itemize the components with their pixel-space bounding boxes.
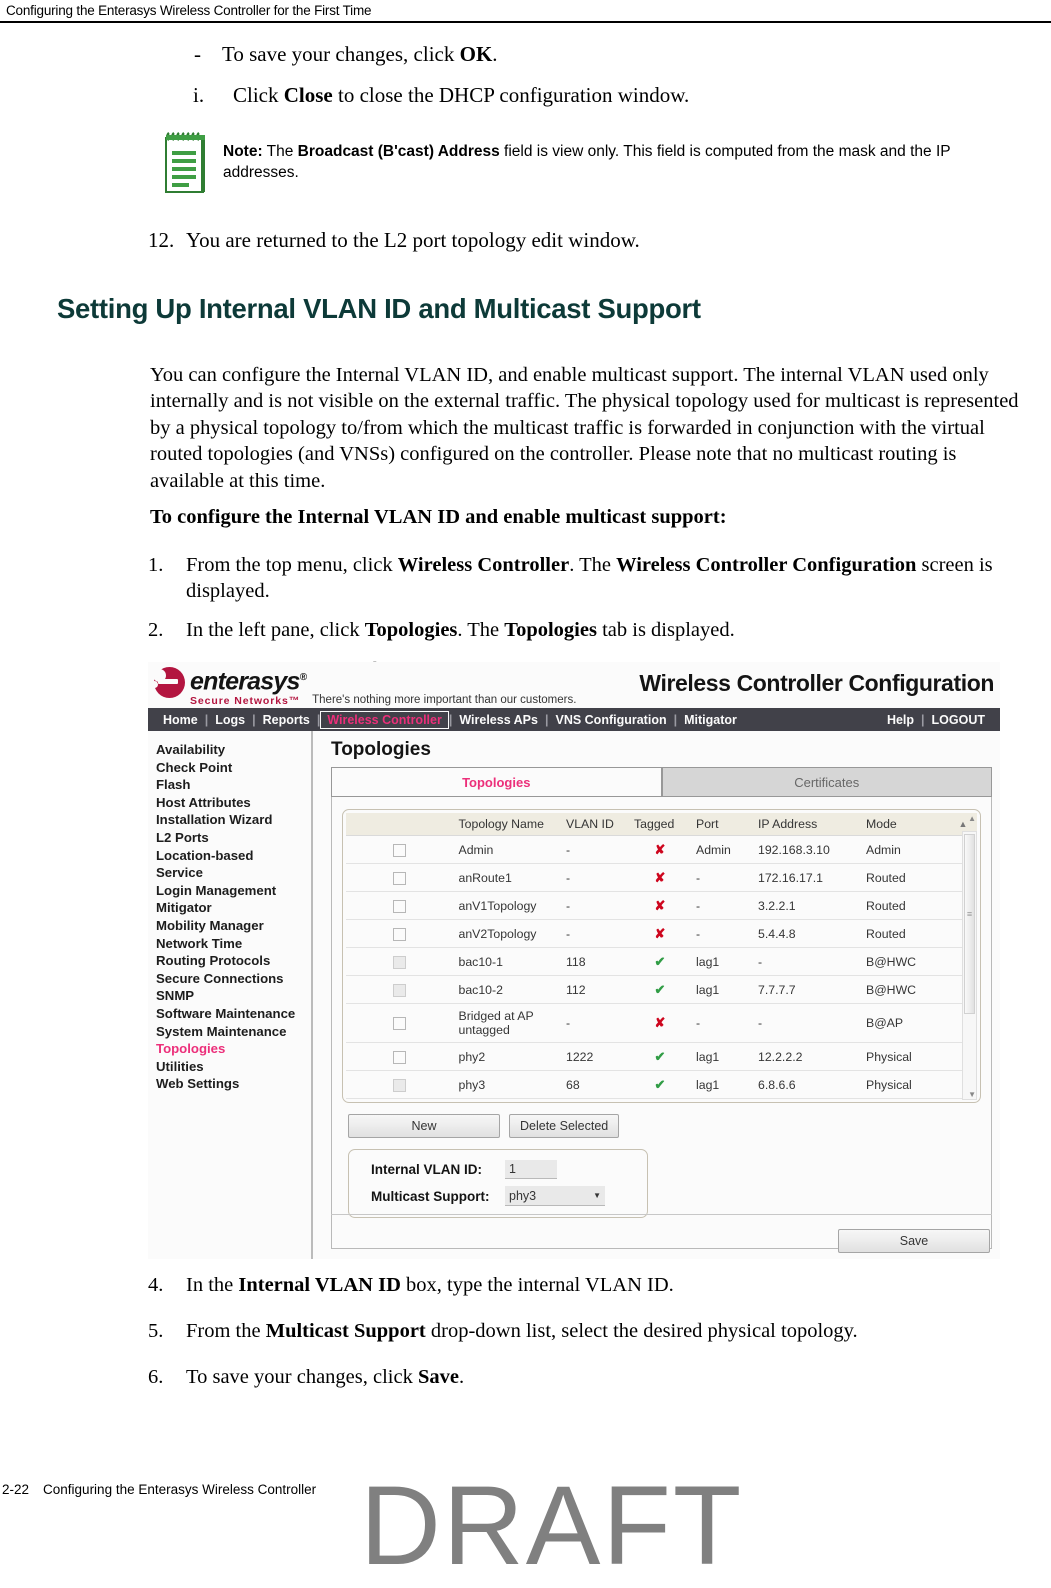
grid-button-row: New Delete Selected [342, 1114, 981, 1138]
step-text: box, type the internal VLAN ID. [401, 1274, 674, 1296]
row-checkbox-cell[interactable] [346, 920, 454, 948]
brand-name: enterasys® [190, 665, 306, 694]
footer-page-number: 2-22 [2, 1482, 29, 1497]
table-vertical-scrollbar[interactable] [962, 831, 977, 1100]
row-checkbox[interactable] [393, 844, 406, 857]
step-text: . [459, 1366, 464, 1388]
cell-port: lag1 [691, 976, 753, 1004]
topologies-table: Topology NameVLAN IDTaggedPortIP Address… [346, 813, 977, 1099]
sub-bullet-save-ok: - To save your changes, click OK. [222, 42, 498, 67]
note-text: Note: The Broadcast (B'cast) Address fie… [223, 132, 1003, 184]
cell-topology-name: bac10-2 [454, 976, 562, 1004]
cell-mode: Routed [861, 892, 949, 920]
step-text: In the left pane, click [186, 619, 365, 641]
cell-tagged: ✘ [629, 892, 691, 920]
table-row[interactable]: anV1Topology-✘-3.2.2.1Routed [346, 892, 977, 920]
table-row[interactable]: bac10-2112✔lag17.7.7.7B@HWC [346, 976, 977, 1004]
cell-ip-address: - [753, 1004, 861, 1043]
app-title: Wireless Controller Configuration [639, 670, 994, 697]
tab-topologies[interactable]: Topologies [331, 767, 662, 796]
cell-ip-address: 12.2.2.2 [753, 1043, 861, 1071]
step-item: 1.From the top menu, click Wireless Cont… [186, 552, 1046, 604]
row-checkbox[interactable] [393, 1051, 406, 1064]
check-icon: ✔ [655, 1077, 666, 1092]
procedure-lead-in: To configure the Internal VLAN ID and en… [150, 506, 727, 529]
new-button[interactable]: New [348, 1114, 500, 1138]
cell-vlan-id: 118 [561, 948, 629, 976]
page-running-header: Configuring the Enterasys Wireless Contr… [0, 0, 1051, 23]
app-body: AvailabilityCheck PointFlashHost Attribu… [148, 731, 1000, 1259]
cell-ip-address: 172.16.17.1 [753, 864, 861, 892]
step-number: 6. [148, 1364, 163, 1390]
table-row[interactable]: Bridged at AP untagged-✘--B@AP [346, 1004, 977, 1043]
cell-vlan-id: - [561, 920, 629, 948]
table-head: Topology NameVLAN IDTaggedPortIP Address… [346, 813, 977, 836]
brand-tagline-bold: Secure Networks™ [190, 695, 306, 708]
step-text: . The [457, 619, 504, 641]
sidebar-item-availability[interactable]: Availability [156, 741, 311, 759]
column-header-tagged[interactable]: Tagged [629, 813, 691, 836]
cell-mode: B@HWC [861, 948, 949, 976]
sidebar-item-network-time[interactable]: Network Time [156, 935, 311, 953]
brand-trademark: ® [300, 672, 307, 683]
footer-chapter-title: Configuring the Enterasys Wireless Contr… [43, 1482, 316, 1497]
enterasys-logo-mark-icon [154, 667, 185, 698]
check-icon: ✔ [655, 954, 666, 969]
cell-ip-address: 3.2.2.1 [753, 892, 861, 920]
row-checkbox[interactable] [393, 1017, 406, 1030]
step-text-bold: Save [418, 1366, 459, 1388]
step-text: . The [569, 554, 616, 576]
cell-topology-name: Admin [454, 836, 562, 864]
column-header-mode[interactable]: Mode [861, 813, 949, 836]
bullet-dash: - [194, 42, 201, 67]
cell-topology-name: bac10-1 [454, 948, 562, 976]
step-text: From the [186, 1320, 266, 1342]
row-checkbox-cell[interactable] [346, 864, 454, 892]
row-checkbox[interactable] [393, 984, 406, 997]
app-main-panel: Topologies TopologiesCertificates Topolo… [313, 731, 1000, 1259]
cell-vlan-id: 1222 [561, 1043, 629, 1071]
cross-icon: ✘ [655, 898, 666, 913]
row-checkbox[interactable] [393, 1079, 406, 1092]
cell-tagged: ✔ [629, 1043, 691, 1071]
sidebar-item-system-maintenance[interactable]: System Maintenance [156, 1023, 311, 1041]
scroll-down-arrow-icon[interactable]: ▼ [968, 1090, 976, 1099]
row-checkbox-cell[interactable] [346, 976, 454, 1004]
sub-bullet-text-before: To save your changes, click [222, 42, 460, 66]
header-rule [0, 21, 1051, 23]
brand-tagline-bold-text: Secure Networks [190, 695, 289, 707]
panel-tabs[interactable]: TopologiesCertificates [331, 767, 992, 797]
sidebar-item-check-point[interactable]: Check Point [156, 759, 311, 777]
multicast-support-select[interactable]: phy3 ▼ [505, 1186, 605, 1206]
cell-mode: Admin [861, 836, 949, 864]
row-checkbox[interactable] [393, 900, 406, 913]
row-checkbox[interactable] [393, 956, 406, 969]
cell-topology-name: anV1Topology [454, 892, 562, 920]
app-sidebar[interactable]: AvailabilityCheck PointFlashHost Attribu… [148, 731, 313, 1259]
row-checkbox-cell[interactable] [346, 1071, 454, 1099]
step-12-number: 12. [148, 228, 174, 253]
tab-certificates[interactable]: Certificates [662, 767, 993, 796]
note-text-1: The [263, 143, 298, 160]
panel-title: Topologies [331, 739, 992, 761]
internal-vlan-id-input[interactable]: 1 [505, 1160, 557, 1179]
cell-mode: B@HWC [861, 976, 949, 1004]
table-row[interactable]: anRoute1-✘-172.16.17.1Routed [346, 864, 977, 892]
topology-grid-wrapper: Topology NameVLAN IDTaggedPortIP Address… [342, 809, 981, 1103]
cell-ip-address: 6.8.6.6 [753, 1071, 861, 1099]
cell-mode: Routed [861, 864, 949, 892]
delete-selected-button[interactable]: Delete Selected [509, 1114, 619, 1138]
cell-port: lag1 [691, 948, 753, 976]
sidebar-item-login-management[interactable]: Login Management [156, 882, 311, 900]
sidebar-item-location-based[interactable]: Location-based [156, 847, 311, 865]
sidebar-item-service[interactable]: Service [156, 864, 311, 882]
cell-vlan-id: 112 [561, 976, 629, 1004]
step-text: tab is displayed. [597, 619, 735, 641]
row-checkbox-cell[interactable] [346, 948, 454, 976]
cell-port: lag1 [691, 1071, 753, 1099]
sidebar-item-topologies[interactable]: Topologies [156, 1040, 311, 1058]
sidebar-item-installation-wizard[interactable]: Installation Wizard [156, 811, 311, 829]
sidebar-item-software-maintenance[interactable]: Software Maintenance [156, 1005, 311, 1023]
step-text-bold: Multicast Support [266, 1320, 426, 1342]
column-header-ip-address[interactable]: IP Address [753, 813, 861, 836]
vlan-multicast-fieldset: Internal VLAN ID: 1 Multicast Support: p… [348, 1149, 648, 1218]
nav-item-reports[interactable]: Reports [256, 713, 317, 727]
table-row[interactable]: bac10-1118✔lag1-B@HWC [346, 948, 977, 976]
section-heading: Setting Up Internal VLAN ID and Multicas… [57, 293, 701, 325]
page-footer: 2-22 Configuring the Enterasys Wireless … [0, 1482, 1051, 1497]
cell-topology-name: anRoute1 [454, 864, 562, 892]
cell-topology-name: phy2 [454, 1043, 562, 1071]
roman-text-after: to close the DHCP configuration window. [333, 83, 690, 107]
check-icon: ✔ [655, 1049, 666, 1064]
roman-text-before: Click [233, 83, 284, 107]
section-paragraph: You can configure the Internal VLAN ID, … [150, 362, 1020, 494]
cross-icon: ✘ [655, 870, 666, 885]
multicast-support-row: Multicast Support: phy3 ▼ [371, 1186, 635, 1206]
step-text: In the [186, 1274, 238, 1296]
roman-bold: Close [284, 83, 333, 107]
roman-item-close: i. Click Close to close the DHCP configu… [233, 83, 689, 108]
enterasys-logo: enterasys® Secure Networks™ There's noth… [154, 665, 576, 708]
sub-bullet-bold: OK [460, 42, 493, 66]
step-text-bold: Internal VLAN ID [238, 1274, 401, 1296]
save-separator [331, 1214, 992, 1215]
cell-port: - [691, 1004, 753, 1043]
scrollbar-thumb[interactable] [964, 834, 975, 1014]
step-item: 5.From the Multicast Support drop-down l… [186, 1318, 1046, 1344]
cell-tagged: ✘ [629, 864, 691, 892]
cell-vlan-id: - [561, 1004, 629, 1043]
cell-topology-name: anV2Topology [454, 920, 562, 948]
nav-item-wireless-aps[interactable]: Wireless APs [452, 713, 545, 727]
topology-grid-outer: Topology NameVLAN IDTaggedPortIP Address… [342, 809, 981, 1103]
logo-text-block: enterasys® Secure Networks™ [190, 665, 306, 708]
multicast-support-value: phy3 [509, 1189, 536, 1203]
brand-name-text: enterasys [190, 667, 300, 695]
cell-port: Admin [691, 836, 753, 864]
multicast-support-label: Multicast Support: [371, 1189, 505, 1204]
cross-icon: ✘ [655, 842, 666, 857]
column-header-select [346, 813, 454, 836]
cell-tagged: ✔ [629, 1071, 691, 1099]
cross-icon: ✘ [655, 926, 666, 941]
cell-ip-address: 5.4.4.8 [753, 920, 861, 948]
cell-ip-address: 7.7.7.7 [753, 976, 861, 1004]
sidebar-item-host-attributes[interactable]: Host Attributes [156, 794, 311, 812]
sidebar-item-secure-connections[interactable]: Secure Connections [156, 970, 311, 988]
sub-bullet-text-after: . [492, 42, 497, 66]
sidebar-item-mobility-manager[interactable]: Mobility Manager [156, 917, 311, 935]
scroll-up-arrow-icon[interactable]: ▲ [968, 814, 976, 823]
step-number: 5. [148, 1318, 163, 1344]
nav-item-mitigator[interactable]: Mitigator [677, 713, 744, 727]
cell-port: lag1 [691, 1043, 753, 1071]
step-number: 4. [148, 1272, 163, 1298]
cell-mode: B@AP [861, 1004, 949, 1043]
step-text: From the top menu, click [186, 554, 398, 576]
row-checkbox-cell[interactable] [346, 1004, 454, 1043]
row-checkbox[interactable] [393, 928, 406, 941]
cell-tagged: ✘ [629, 920, 691, 948]
panel-content-box: Topology NameVLAN IDTaggedPortIP Address… [331, 797, 992, 1249]
roman-marker: i. [193, 83, 204, 108]
app-top-navbar[interactable]: Home|Logs|Reports|Wireless Controller|Wi… [148, 708, 1000, 731]
cell-ip-address: - [753, 948, 861, 976]
cell-vlan-id: - [561, 864, 629, 892]
column-header-vlan-id[interactable]: VLAN ID [561, 813, 629, 836]
table-row[interactable]: anV2Topology-✘-5.4.4.8Routed [346, 920, 977, 948]
note-bold-field: Broadcast (B'cast) Address [298, 143, 500, 160]
nav-item-logs[interactable]: Logs [208, 713, 252, 727]
sidebar-item-routing-protocols[interactable]: Routing Protocols [156, 952, 311, 970]
table-row[interactable]: phy21222✔lag112.2.2.2Physical [346, 1043, 977, 1071]
notepad-icon [163, 132, 209, 194]
internal-vlan-id-label: Internal VLAN ID: [371, 1162, 505, 1177]
column-header-topology-name[interactable]: Topology Name [454, 813, 562, 836]
cell-topology-name: Bridged at AP untagged [454, 1004, 562, 1043]
cell-tagged: ✘ [629, 836, 691, 864]
nav-item-help[interactable]: Help [880, 713, 921, 727]
step-text-bold: Wireless Controller Configuration [616, 554, 916, 576]
nav-item-vns-configuration[interactable]: VNS Configuration [548, 713, 673, 727]
cell-vlan-id: 68 [561, 1071, 629, 1099]
sidebar-item-web-settings[interactable]: Web Settings [156, 1075, 311, 1093]
step-text: drop-down list, select the desired physi… [426, 1320, 858, 1342]
note-label: Note: [223, 143, 263, 160]
embedded-app-screenshot: enterasys® Secure Networks™ There's noth… [148, 662, 1000, 1259]
step-item: 6.To save your changes, click Save. [186, 1364, 1046, 1390]
step-item: 2.In the left pane, click Topologies. Th… [186, 617, 1046, 643]
table-header-row[interactable]: Topology NameVLAN IDTaggedPortIP Address… [346, 813, 977, 836]
sidebar-item-mitigator[interactable]: Mitigator [156, 899, 311, 917]
sidebar-item-utilities[interactable]: Utilities [156, 1058, 311, 1076]
nav-item-home[interactable]: Home [156, 713, 205, 727]
running-header-text: Configuring the Enterasys Wireless Contr… [0, 0, 1051, 21]
step-12-text: You are returned to the L2 port topology… [186, 228, 640, 252]
row-checkbox-cell[interactable] [346, 836, 454, 864]
table-row[interactable]: phy368✔lag16.8.6.6Physical [346, 1071, 977, 1099]
cell-mode: Physical [861, 1071, 949, 1099]
row-checkbox-cell[interactable] [346, 892, 454, 920]
step-item: 4.In the Internal VLAN ID box, type the … [186, 1272, 1046, 1298]
sidebar-item-flash[interactable]: Flash [156, 776, 311, 794]
app-masthead: enterasys® Secure Networks™ There's noth… [148, 662, 1000, 708]
step-text-bold: Topologies [365, 619, 458, 641]
row-checkbox-cell[interactable] [346, 1043, 454, 1071]
step-text-bold: Wireless Controller [398, 554, 569, 576]
cell-tagged: ✘ [629, 1004, 691, 1043]
save-button[interactable]: Save [838, 1229, 990, 1253]
step-text: To save your changes, click [186, 1366, 418, 1388]
cell-vlan-id: - [561, 836, 629, 864]
cell-port: - [691, 892, 753, 920]
nav-item-wireless-controller[interactable]: Wireless Controller [320, 711, 449, 729]
internal-vlan-id-row: Internal VLAN ID: 1 [371, 1160, 635, 1179]
table-body: Admin-✘Admin192.168.3.10AdminanRoute1-✘-… [346, 836, 977, 1099]
note-callout: Note: The Broadcast (B'cast) Address fie… [163, 132, 1003, 194]
table-row[interactable]: Admin-✘Admin192.168.3.10Admin [346, 836, 977, 864]
step-number: 1. [148, 552, 163, 578]
brand-tagline-tm: ™ [289, 695, 300, 707]
cell-mode: Routed [861, 920, 949, 948]
save-row: Save [838, 1229, 990, 1253]
row-checkbox[interactable] [393, 872, 406, 885]
cell-tagged: ✔ [629, 948, 691, 976]
cell-topology-name: phy3 [454, 1071, 562, 1099]
step-12: 12. You are returned to the L2 port topo… [186, 228, 640, 253]
cell-ip-address: 192.168.3.10 [753, 836, 861, 864]
step-text-bold: Topologies [504, 619, 597, 641]
steps-list-bottom: 4.In the Internal VLAN ID box, type the … [186, 1272, 1046, 1411]
cell-port: - [691, 864, 753, 892]
sidebar-item-snmp[interactable]: SNMP [156, 987, 311, 1005]
brand-slogan: There's nothing more important than our … [312, 694, 576, 708]
cell-mode: Physical [861, 1043, 949, 1071]
sidebar-item-l2-ports[interactable]: L2 Ports [156, 829, 311, 847]
cross-icon: ✘ [655, 1015, 666, 1030]
cell-vlan-id: - [561, 892, 629, 920]
column-header-port[interactable]: Port [691, 813, 753, 836]
step-number: 2. [148, 617, 163, 643]
cell-port: - [691, 920, 753, 948]
cell-tagged: ✔ [629, 976, 691, 1004]
check-icon: ✔ [655, 982, 666, 997]
chevron-down-icon: ▼ [593, 1191, 601, 1200]
nav-item-logout[interactable]: LOGOUT [925, 713, 992, 727]
